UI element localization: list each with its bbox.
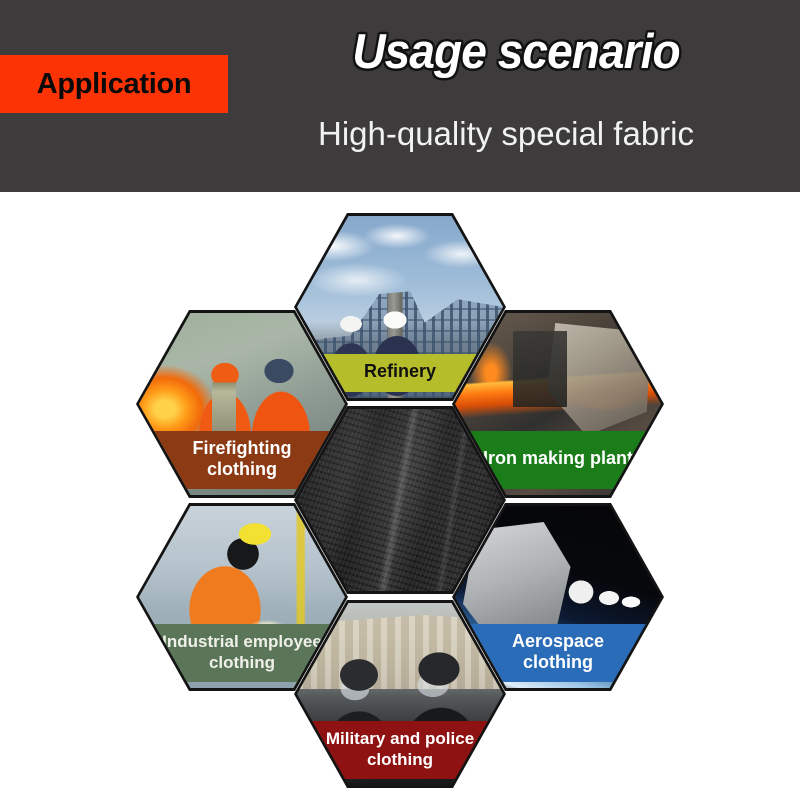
page-title: Usage scenario [262,20,770,86]
hex-label-military-police: Military and police clothing [297,721,503,779]
application-badge: Application [0,55,228,113]
hexagon-grid: Refinery Firefighting clothing Iron maki… [0,192,800,800]
usage-scenario-page: Application Usage scenario High-quality … [0,0,800,800]
page-subtitle: High-quality special fabric [226,115,786,153]
application-badge-label: Application [37,68,192,101]
page-header: Application Usage scenario High-quality … [0,0,800,192]
